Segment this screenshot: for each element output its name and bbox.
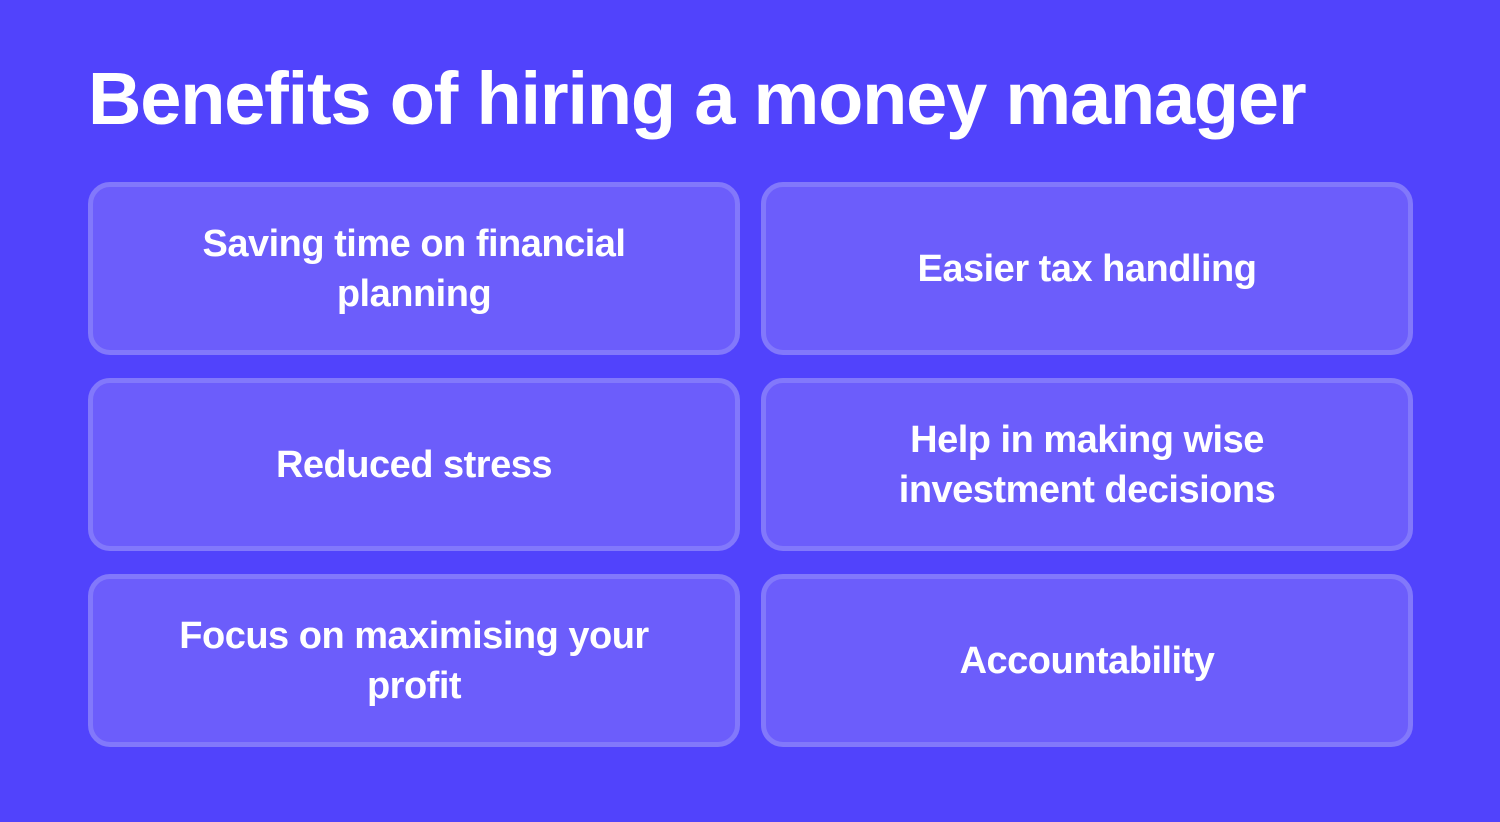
- page-title: Benefits of hiring a money manager: [88, 57, 1408, 141]
- slide-canvas: Benefits of hiring a money manager Savin…: [0, 0, 1500, 822]
- benefit-card-label: Help in making wise investment decisions: [808, 415, 1366, 515]
- benefit-card-label: Reduced stress: [276, 440, 552, 490]
- benefit-card-label: Saving time on financial planning: [135, 219, 693, 319]
- benefits-card-grid: Saving time on financial planning Easier…: [88, 182, 1413, 748]
- benefit-card-2[interactable]: Easier tax handling: [761, 182, 1413, 355]
- benefit-card-5[interactable]: Focus on maximising your profit: [88, 574, 740, 747]
- benefit-card-3[interactable]: Reduced stress: [88, 378, 740, 551]
- benefit-card-label: Accountability: [960, 636, 1215, 686]
- benefit-card-4[interactable]: Help in making wise investment decisions: [761, 378, 1413, 551]
- benefit-card-1[interactable]: Saving time on financial planning: [88, 182, 740, 355]
- benefit-card-label: Easier tax handling: [918, 244, 1257, 294]
- benefit-card-6[interactable]: Accountability: [761, 574, 1413, 747]
- benefit-card-label: Focus on maximising your profit: [135, 611, 693, 711]
